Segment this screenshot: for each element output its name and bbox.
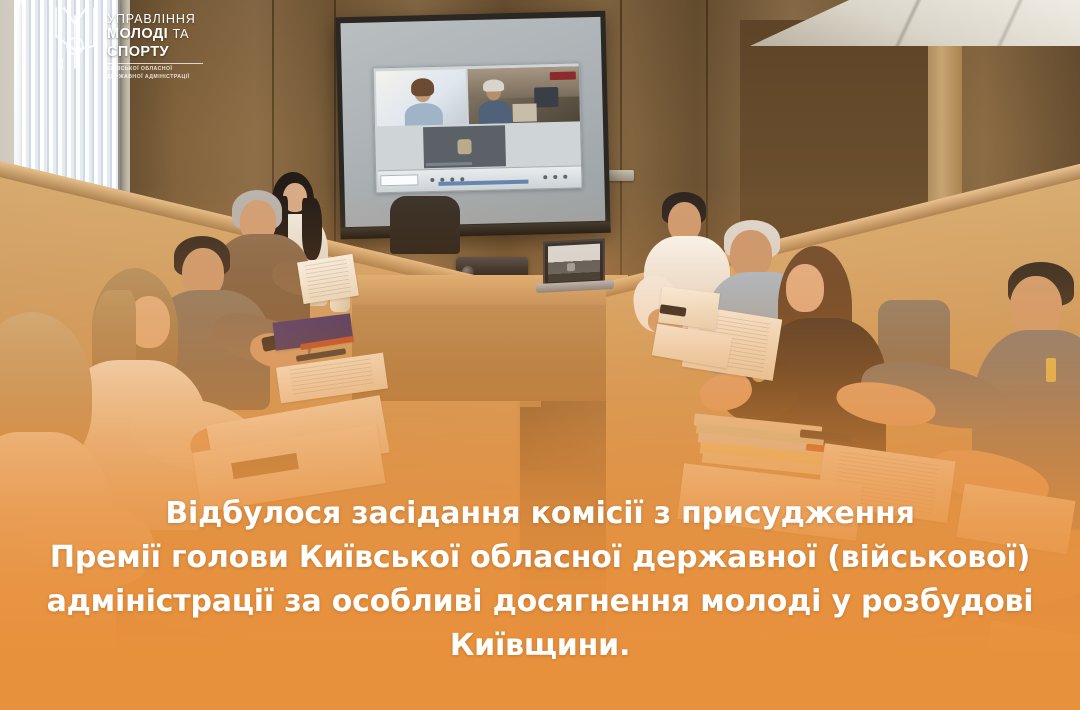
logo-line-2-bold: МОЛОДІ [107,26,168,42]
logo-subline-1: КИЇВСЬКОЇ ОБЛАСНОЇ [107,66,203,74]
screenshot-root: УПРАВЛІННЯ МОЛОДІ ТА СПОРТУ КИЇВСЬКОЇ ОБ… [0,0,1080,710]
video-tile-participant-2 [468,66,580,124]
head-table-apron [352,305,628,401]
call-control-icon[interactable] [430,178,434,182]
video-tile-participant-3 [423,125,506,168]
logo-text-block: УПРАВЛІННЯ МОЛОДІ ТА СПОРТУ КИЇВСЬКОЇ ОБ… [107,6,203,82]
logo-line-3: СПОРТУ [107,44,203,61]
recording-indicator [550,71,576,80]
logo-divider [107,63,203,64]
document-sheet [297,254,359,304]
call-control-icon[interactable] [563,175,567,179]
logo-subline-2: ДЕРЖАВНОЇ АДМІНІСТРАЦІЇ [107,74,203,82]
video-tile-participant-1 [376,69,467,126]
organization-logo: УПРАВЛІННЯ МОЛОДІ ТА СПОРТУ КИЇВСЬКОЇ ОБ… [52,6,232,82]
logo-line-1: УПРАВЛІННЯ [107,12,203,26]
call-control-icon[interactable] [543,175,547,179]
video-call-window [373,62,583,193]
projection-surface [340,17,605,227]
video-call-toolbar[interactable] [378,165,581,190]
call-control-icon[interactable] [553,175,557,179]
projection-screen [335,11,610,240]
document-sheet [982,620,1080,694]
chair [390,196,460,254]
laptop-video-call-view [548,244,600,283]
logo-line-2: МОЛОДІ ТА [107,26,203,43]
photo-scene [0,0,1080,710]
logo-line-2-thin: ТА [172,27,188,41]
laptop-screen[interactable] [543,238,605,285]
trident-monogram-icon [52,6,98,70]
flag-patch-icon [1046,358,1056,382]
